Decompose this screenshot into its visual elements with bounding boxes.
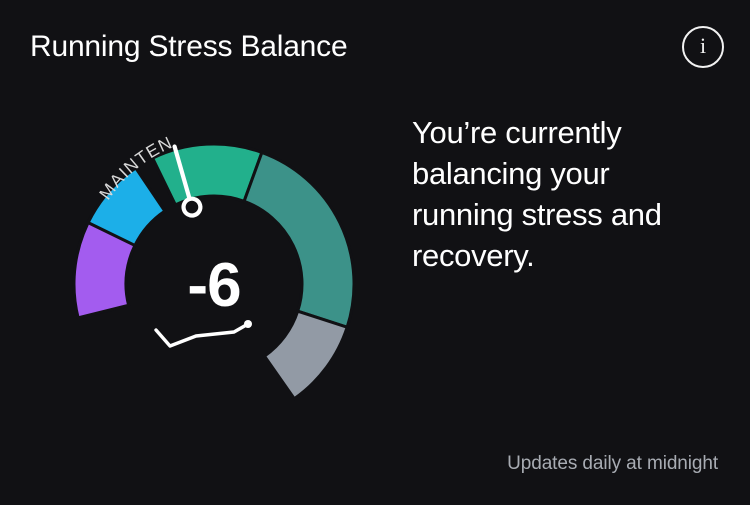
gauge-segment-high-strain — [264, 311, 347, 399]
stress-balance-gauge: MAINTENANCE -6 — [34, 84, 394, 404]
gauge-zone-label: MAINTENANCE — [27, 68, 176, 203]
status-message: You’re currently balancing your running … — [412, 113, 712, 277]
card-header: Running Stress Balance i — [30, 22, 724, 72]
sparkline-path — [156, 324, 248, 346]
gauge-value: -6 — [187, 251, 240, 320]
gauge-segment-overreaching — [244, 152, 354, 327]
info-circle-icon[interactable]: i — [682, 26, 724, 68]
gauge-zone-label-text: MAINTENANCE — [27, 68, 176, 203]
update-frequency-note: Updates daily at midnight — [507, 453, 718, 475]
sparkline-end-dot — [244, 320, 252, 328]
page-title: Running Stress Balance — [30, 32, 347, 62]
info-glyph: i — [700, 35, 706, 57]
trend-sparkline — [156, 320, 252, 346]
needle-hub — [182, 197, 203, 218]
running-stress-balance-card: Running Stress Balance i — [0, 0, 750, 505]
